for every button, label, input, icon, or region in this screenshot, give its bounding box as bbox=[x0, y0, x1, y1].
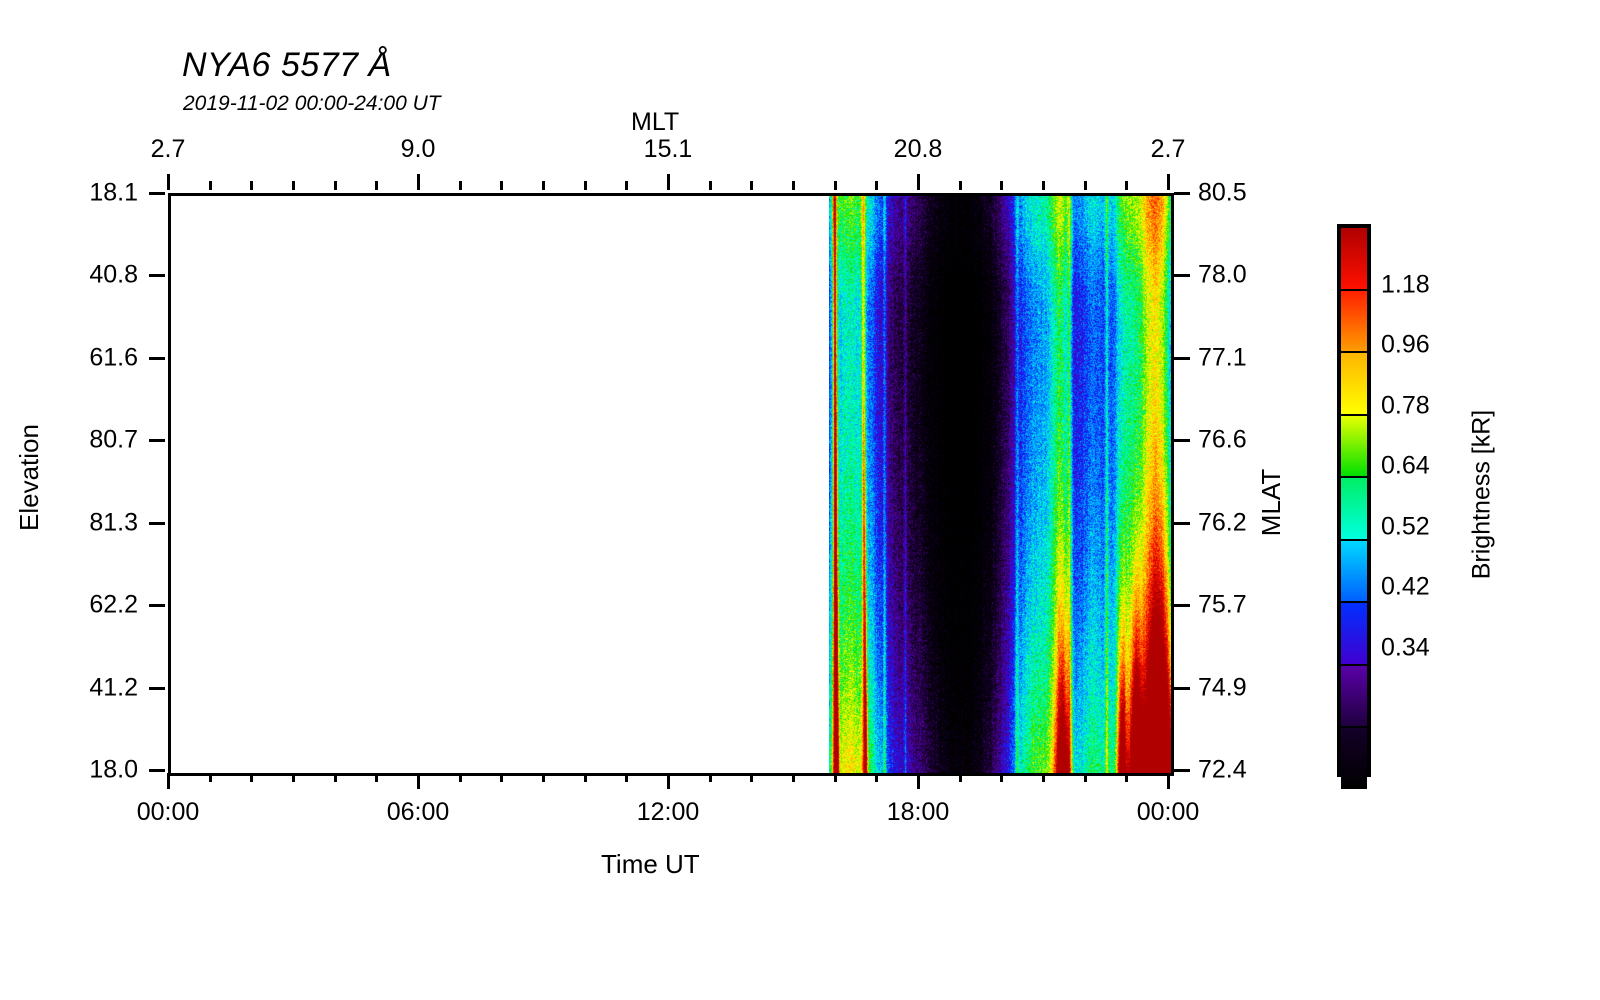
elev-tick bbox=[149, 274, 165, 277]
x-tick-minor bbox=[750, 773, 753, 782]
colorbar-tick-label: 1.18 bbox=[1381, 270, 1430, 299]
mlt-tick-major bbox=[417, 174, 420, 190]
colorbar-band bbox=[1341, 351, 1367, 414]
mlat-tick bbox=[1174, 769, 1190, 772]
x-tick-major bbox=[917, 773, 920, 789]
colorbar-tick-label: 0.42 bbox=[1381, 573, 1430, 602]
elev-tick bbox=[149, 192, 165, 195]
x-tick-minor bbox=[292, 773, 295, 782]
elev-tick-label: 18.0 bbox=[0, 756, 138, 785]
x-tick-minor bbox=[500, 773, 503, 782]
top-axis-title: MLT bbox=[631, 108, 679, 137]
x-tick-major bbox=[1167, 773, 1170, 789]
x-tick-label: 00:00 bbox=[1137, 798, 1200, 827]
elev-tick bbox=[149, 604, 165, 607]
colorbar-axis-title: Brightness [kR] bbox=[1467, 410, 1496, 580]
mlat-tick bbox=[1174, 274, 1190, 277]
mlt-tick-minor bbox=[500, 181, 503, 190]
mlt-tick-minor bbox=[750, 181, 753, 190]
colorbar-band bbox=[1341, 539, 1367, 602]
elev-tick-label: 81.3 bbox=[0, 508, 138, 537]
x-tick-minor bbox=[1042, 773, 1045, 782]
x-tick-minor bbox=[959, 773, 962, 782]
colorbar-band bbox=[1341, 601, 1367, 664]
elev-tick-label: 41.2 bbox=[0, 673, 138, 702]
elev-tick bbox=[149, 439, 165, 442]
elev-tick-label: 80.7 bbox=[0, 426, 138, 455]
mlat-tick bbox=[1174, 522, 1190, 525]
mlat-tick bbox=[1174, 357, 1190, 360]
mlt-tick-label: 2.7 bbox=[1151, 135, 1186, 164]
mlt-tick-minor bbox=[792, 181, 795, 190]
x-tick-major bbox=[417, 773, 420, 789]
bottom-axis-title: Time UT bbox=[601, 849, 700, 880]
colorbar-band bbox=[1341, 726, 1367, 789]
colorbar-band bbox=[1341, 664, 1367, 727]
elev-tick bbox=[149, 357, 165, 360]
mlt-tick-minor bbox=[292, 181, 295, 190]
mlat-tick-label: 78.0 bbox=[1198, 261, 1247, 290]
elev-tick bbox=[149, 687, 165, 690]
elev-tick bbox=[149, 522, 165, 525]
keogram-canvas bbox=[829, 196, 1171, 773]
colorbar-tick-label: 0.78 bbox=[1381, 391, 1430, 420]
mlt-tick-minor bbox=[584, 181, 587, 190]
x-tick-label: 18:00 bbox=[887, 798, 950, 827]
mlt-tick-minor bbox=[375, 181, 378, 190]
mlt-tick-minor bbox=[834, 181, 837, 190]
mlat-tick-label: 76.2 bbox=[1198, 508, 1247, 537]
mlt-tick-minor bbox=[875, 181, 878, 190]
mlat-tick-label: 72.4 bbox=[1198, 756, 1247, 785]
mlt-tick-major bbox=[917, 174, 920, 190]
x-tick-minor bbox=[250, 773, 253, 782]
x-tick-minor bbox=[1084, 773, 1087, 782]
colorbar-tick-label: 0.34 bbox=[1381, 633, 1430, 662]
mlt-tick-label: 15.1 bbox=[644, 135, 693, 164]
mlt-tick-minor bbox=[542, 181, 545, 190]
x-tick-minor bbox=[1000, 773, 1003, 782]
colorbar-band bbox=[1341, 476, 1367, 539]
page-subtitle: 2019-11-02 00:00-24:00 UT bbox=[183, 92, 441, 116]
x-tick-minor bbox=[834, 773, 837, 782]
mlt-tick-minor bbox=[1125, 181, 1128, 190]
mlt-tick-minor bbox=[1000, 181, 1003, 190]
mlt-tick-major bbox=[1167, 174, 1170, 190]
colorbar bbox=[1337, 224, 1371, 777]
mlat-tick-label: 75.7 bbox=[1198, 591, 1247, 620]
x-tick-label: 12:00 bbox=[637, 798, 700, 827]
elev-tick-label: 62.2 bbox=[0, 591, 138, 620]
elev-tick-label: 61.6 bbox=[0, 343, 138, 372]
elev-tick-label: 40.8 bbox=[0, 261, 138, 290]
keogram-plot bbox=[168, 193, 1174, 776]
mlt-tick-minor bbox=[250, 181, 253, 190]
colorbar-tick-label: 0.64 bbox=[1381, 452, 1430, 481]
colorbar-band bbox=[1341, 414, 1367, 477]
mlat-tick bbox=[1174, 604, 1190, 607]
x-tick-major bbox=[667, 773, 670, 789]
mlt-tick-major bbox=[667, 174, 670, 190]
mlt-tick-minor bbox=[709, 181, 712, 190]
elev-tick bbox=[149, 769, 165, 772]
mlat-tick bbox=[1174, 687, 1190, 690]
mlat-tick-label: 74.9 bbox=[1198, 673, 1247, 702]
mlt-tick-minor bbox=[334, 181, 337, 190]
mlt-tick-minor bbox=[1042, 181, 1045, 190]
colorbar-tick-label: 0.96 bbox=[1381, 331, 1430, 360]
mlt-tick-minor bbox=[1084, 181, 1087, 190]
x-tick-minor bbox=[875, 773, 878, 782]
x-tick-minor bbox=[209, 773, 212, 782]
colorbar-band bbox=[1341, 228, 1367, 289]
mlt-tick-major bbox=[167, 174, 170, 190]
colorbar-tick-label: 0.52 bbox=[1381, 512, 1430, 541]
x-tick-minor bbox=[625, 773, 628, 782]
x-tick-label: 06:00 bbox=[387, 798, 450, 827]
page-title: NYA6 5577 Å bbox=[182, 46, 392, 85]
x-tick-minor bbox=[1125, 773, 1128, 782]
keogram-image-area bbox=[171, 196, 1171, 773]
elev-tick-label: 18.1 bbox=[0, 179, 138, 208]
x-tick-minor bbox=[459, 773, 462, 782]
x-tick-minor bbox=[542, 773, 545, 782]
mlt-tick-minor bbox=[459, 181, 462, 190]
mlat-tick bbox=[1174, 192, 1190, 195]
x-tick-minor bbox=[375, 773, 378, 782]
x-tick-minor bbox=[792, 773, 795, 782]
right-axis-title: MLAT bbox=[1256, 469, 1287, 536]
mlt-tick-label: 20.8 bbox=[894, 135, 943, 164]
x-tick-minor bbox=[709, 773, 712, 782]
mlat-tick-label: 80.5 bbox=[1198, 179, 1247, 208]
mlt-tick-label: 2.7 bbox=[151, 135, 186, 164]
mlat-tick-label: 76.6 bbox=[1198, 426, 1247, 455]
x-tick-minor bbox=[334, 773, 337, 782]
x-tick-label: 00:00 bbox=[137, 798, 200, 827]
x-tick-minor bbox=[584, 773, 587, 782]
mlat-tick bbox=[1174, 439, 1190, 442]
mlt-tick-minor bbox=[959, 181, 962, 190]
x-tick-major bbox=[167, 773, 170, 789]
mlat-tick-label: 77.1 bbox=[1198, 343, 1247, 372]
colorbar-band bbox=[1341, 289, 1367, 352]
mlt-tick-label: 9.0 bbox=[401, 135, 436, 164]
mlt-tick-minor bbox=[625, 181, 628, 190]
mlt-tick-minor bbox=[209, 181, 212, 190]
